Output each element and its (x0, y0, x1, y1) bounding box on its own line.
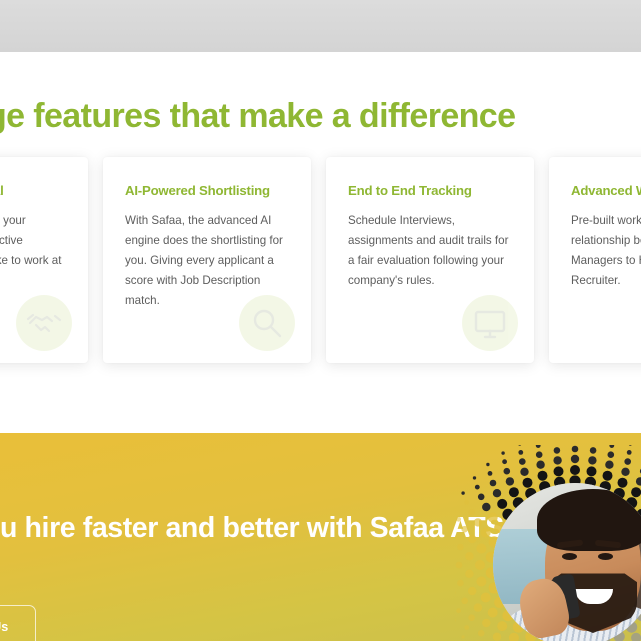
cta-heading: Let us help you hire faster and better w… (0, 511, 514, 546)
features-section: Cutting-edge features that make a differ… (0, 52, 641, 433)
feature-card-title: Candidate Portal (0, 183, 66, 198)
handshake-icon (16, 295, 72, 351)
feature-card[interactable]: Advanced Workflows Pre-built workflows d… (549, 157, 641, 363)
feature-card-desc: Schedule Interviews, assignments and aud… (348, 211, 512, 291)
avatar-photo (493, 483, 641, 641)
feature-card-desc: Pre-built workflows define the relations… (571, 211, 641, 291)
feature-card-desc: Candidate Portal is your candidate's per… (0, 211, 66, 291)
feature-card[interactable]: End to End Tracking Schedule Interviews,… (326, 157, 534, 363)
feature-card[interactable]: AI-Powered Shortlisting With Safaa, the … (103, 157, 311, 363)
feature-card-title: Advanced Workflows (571, 183, 641, 198)
cta-banner: Let us help you hire faster and better w… (0, 433, 641, 641)
feature-card-title: End to End Tracking (348, 183, 512, 198)
feature-card-title: AI-Powered Shortlisting (125, 183, 289, 198)
monitor-icon (462, 295, 518, 351)
features-heading: Cutting-edge features that make a differ… (0, 97, 641, 136)
contact-us-button[interactable]: Contact Us (0, 605, 36, 641)
feature-card[interactable]: Candidate Portal Candidate Portal is you… (0, 157, 88, 363)
cta-photo-figure (455, 445, 641, 641)
page-root: Cutting-edge features that make a differ… (0, 0, 641, 641)
browser-chrome-band (0, 0, 641, 52)
feature-cards-row: Candidate Portal Candidate Portal is you… (0, 157, 641, 363)
magnifier-icon (239, 295, 295, 351)
